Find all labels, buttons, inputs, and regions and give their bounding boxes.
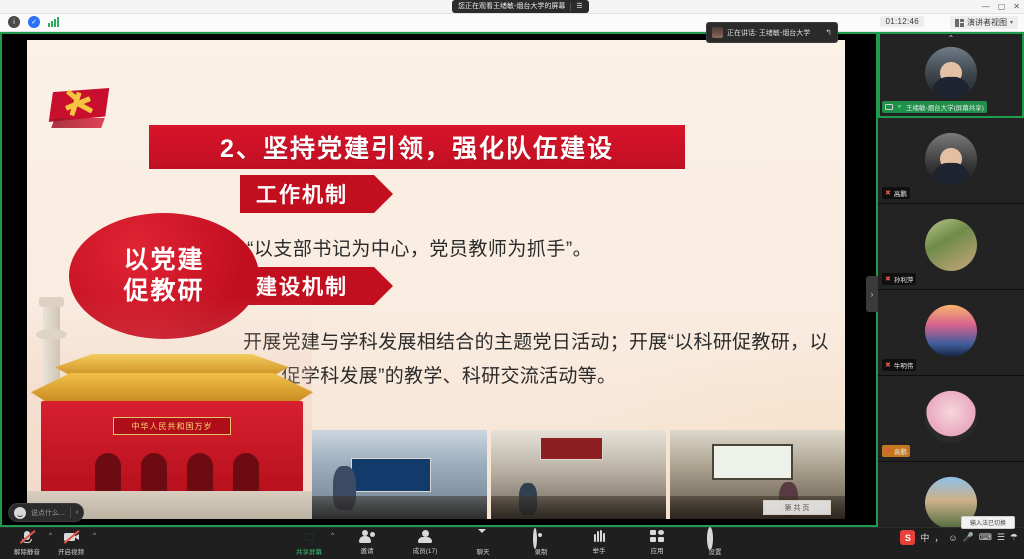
ime-lang-label[interactable]: 中	[920, 531, 929, 544]
start-video-button[interactable]: 开启视频 ^	[50, 530, 92, 556]
rail-collapse-handle[interactable]: ›	[866, 276, 878, 312]
participant-name-3: 牛明伟	[894, 360, 914, 370]
avatar	[925, 390, 977, 442]
chat-icon	[475, 530, 491, 544]
maximize-button[interactable]: ▢	[998, 1, 1006, 12]
share-screen-button[interactable]: 共享屏幕 ^	[288, 530, 330, 556]
slide-title: 2、坚持党建引领，强化队伍建设	[149, 125, 685, 169]
share-options-chevron-icon[interactable]: ^	[331, 533, 334, 539]
slide-quote: “以支部书记为中心，党员教师为抓手”。	[247, 234, 592, 261]
view-mode-label: 演讲者视图	[967, 17, 1007, 28]
zoom-meeting-window: 您正在观看王绪敏-烟台大学的屏幕 ☰ — ▢ ✕ i ✓ 01:12:46 演讲…	[0, 0, 1024, 559]
unmute-label: 解除静音	[14, 546, 40, 556]
return-arrow-icon[interactable]: ↰	[825, 28, 832, 37]
chat-button[interactable]: 聊天	[462, 530, 504, 556]
apps-label: 应用	[651, 545, 664, 555]
invite-button[interactable]: 邀请	[346, 530, 388, 556]
record-icon	[533, 530, 549, 544]
participant-namebar-3: ✖ 牛明伟	[882, 359, 916, 371]
participant-tile-4[interactable]: ✖ 袁鹏	[878, 376, 1024, 462]
video-options-chevron-icon[interactable]: ^	[93, 533, 96, 539]
participant-namebar-0: ▼ 王绪敏-烟台大学(屏幕共享)	[882, 101, 987, 113]
invite-label: 邀请	[361, 545, 374, 555]
ime-keyboard-icon[interactable]: ⌨	[979, 532, 992, 543]
speaker-avatar	[712, 27, 723, 38]
camera-off-icon	[63, 530, 79, 544]
share-screen-icon	[301, 530, 317, 544]
active-speaker-indicator: 正在讲话: 王绪敏-烟台大学 ↰	[706, 22, 838, 43]
signal-bars-icon[interactable]	[48, 17, 59, 27]
participant-name-4: 袁鹏	[894, 446, 907, 456]
participant-namebar-1: ✖ 高鹏	[882, 187, 910, 199]
participant-tile-0[interactable]: ⌃ ▼ 王绪敏-烟台大学(屏幕共享)	[878, 32, 1024, 118]
participant-tile-2[interactable]: ✖ 孙利萍	[878, 204, 1024, 290]
chevron-down-icon: ▾	[1010, 19, 1013, 26]
active-speaker-text: 正在讲话: 王绪敏-烟台大学	[727, 28, 821, 38]
slide-title-text: 2、坚持党建引领，强化队伍建设	[220, 129, 614, 165]
slide-page-tag: 第 共 页	[763, 500, 831, 515]
close-button[interactable]: ✕	[1013, 1, 1020, 12]
collapse-chevron-icon[interactable]: ‹	[76, 509, 78, 516]
mic-muted-icon: ✖	[885, 448, 891, 455]
unmute-button[interactable]: 解除静音 ^	[6, 530, 48, 556]
notice-list-icon[interactable]: ☰	[576, 0, 582, 13]
slide-tag-work-mechanism: 工作机制	[240, 175, 374, 213]
participant-namebar-2: ✖ 孙利萍	[882, 273, 916, 285]
ime-punct-icon[interactable]: ，	[934, 531, 943, 544]
participants-icon	[417, 530, 433, 543]
ime-voice-icon[interactable]: 🎤	[963, 532, 974, 543]
smiley-icon[interactable]	[14, 507, 26, 519]
mic-muted-icon	[19, 530, 35, 544]
avatar	[925, 304, 977, 356]
meeting-toolbar: 解除静音 ^ 开启视频 ^ 共享屏幕 ^	[0, 527, 1024, 559]
layout-icon	[955, 19, 964, 27]
status-icons: i ✓	[8, 16, 59, 28]
window-controls: — ▢ ✕	[982, 1, 1020, 12]
participant-namebar-4: ✖ 袁鹏	[882, 445, 910, 457]
rail-scroll-up-icon[interactable]: ⌃	[948, 34, 955, 43]
chat-input-bubble[interactable]: 说点什么... ‹	[8, 503, 84, 522]
notice-divider	[570, 3, 571, 11]
minimize-button[interactable]: —	[982, 1, 990, 12]
gate-plaque-text: 中华人民共和国万岁	[113, 417, 231, 435]
slide-paragraph: 开展党建与学科发展相结合的主题党日活动；开展“以科研促教研，以学术促学科发展”的…	[243, 326, 843, 394]
participants-button[interactable]: 成员(17)	[404, 530, 446, 556]
ime-menu-icon[interactable]: ☰	[997, 532, 1005, 543]
screen-share-icon	[885, 104, 893, 110]
screen-share-notice-text: 您正在观看王绪敏-烟台大学的屏幕	[458, 0, 565, 13]
presentation-slide: 2、坚持党建引领，强化队伍建设 以党建 促教研 工作机制 建设机制 “以支部书记…	[27, 40, 845, 519]
avatar	[925, 132, 977, 184]
participant-name-0: 王绪敏-烟台大学(屏幕共享)	[906, 102, 984, 112]
participants-rail[interactable]: ⌃ ▼ 王绪敏-烟台大学(屏幕共享) ✖ 高鹏 ✖ 孙利萍 ✖	[878, 32, 1024, 527]
view-mode-selector[interactable]: 演讲者视图 ▾	[950, 16, 1018, 29]
avatar	[925, 46, 977, 98]
slide-tag-work-label: 工作机制	[256, 179, 348, 209]
mic-on-icon: ▼	[896, 104, 903, 111]
toolbar-left-group: 解除静音 ^ 开启视频 ^	[6, 530, 92, 556]
slide-photo-1	[312, 430, 487, 519]
gear-icon	[707, 530, 723, 544]
party-emblem-icon	[47, 82, 113, 134]
avatar	[925, 218, 977, 270]
start-video-label: 开启视频	[58, 546, 84, 556]
participant-tile-3[interactable]: ✖ 牛明伟	[878, 290, 1024, 376]
settings-button[interactable]: 设置	[694, 530, 736, 556]
title-bar: 您正在观看王绪敏-烟台大学的屏幕 ☰ — ▢ ✕	[0, 0, 1024, 14]
status-strip: i ✓ 01:12:46 演讲者视图 ▾	[0, 14, 1024, 32]
toolbar-center-group: 共享屏幕 ^ 邀请 成员(17)	[288, 530, 736, 556]
mic-muted-icon: ✖	[885, 190, 891, 197]
info-icon[interactable]: i	[8, 16, 20, 28]
invite-icon	[359, 530, 375, 543]
apps-button[interactable]: 应用	[636, 530, 678, 556]
participant-name-1: 高鹏	[894, 188, 907, 198]
raise-hand-button[interactable]: 举手	[578, 530, 620, 556]
shared-screen-stage[interactable]: 2、坚持党建引领，强化队伍建设 以党建 促教研 工作机制 建设机制 “以支部书记…	[0, 32, 878, 527]
share-screen-label: 共享屏幕	[296, 546, 322, 556]
participants-label: 成员(17)	[413, 545, 438, 555]
record-button[interactable]: 录制	[520, 530, 562, 556]
participant-name-2: 孙利萍	[894, 274, 914, 284]
tiananmen-illustration: 中华人民共和国万岁	[27, 295, 312, 519]
ime-tray[interactable]: 输入法已切换 S 中 ， ☺ 🎤 ⌨ ☰ ☂	[900, 530, 1018, 545]
participant-tile-1[interactable]: ✖ 高鹏	[878, 118, 1024, 204]
apps-icon	[650, 530, 664, 543]
mic-muted-icon: ✖	[885, 276, 891, 283]
slide-photo-2	[491, 430, 666, 519]
bubble-divider	[70, 507, 71, 518]
sogou-logo-icon[interactable]: S	[900, 530, 915, 545]
chat-label: 聊天	[477, 546, 490, 556]
ime-emoji-icon[interactable]: ☺	[948, 533, 957, 543]
meeting-timer: 01:12:46	[880, 16, 924, 27]
record-label: 录制	[535, 546, 548, 556]
shield-icon[interactable]: ✓	[28, 16, 40, 28]
ime-skin-icon[interactable]: ☂	[1010, 532, 1018, 543]
raise-hand-label: 举手	[593, 545, 606, 555]
screen-share-notice: 您正在观看王绪敏-烟台大学的屏幕 ☰	[452, 0, 589, 13]
mic-muted-icon: ✖	[885, 362, 891, 369]
raise-hand-icon	[593, 530, 606, 543]
chat-input-placeholder[interactable]: 说点什么...	[31, 508, 65, 518]
slide-badge-line1: 以党建	[123, 245, 204, 276]
ime-tooltip: 输入法已切换	[961, 516, 1015, 529]
